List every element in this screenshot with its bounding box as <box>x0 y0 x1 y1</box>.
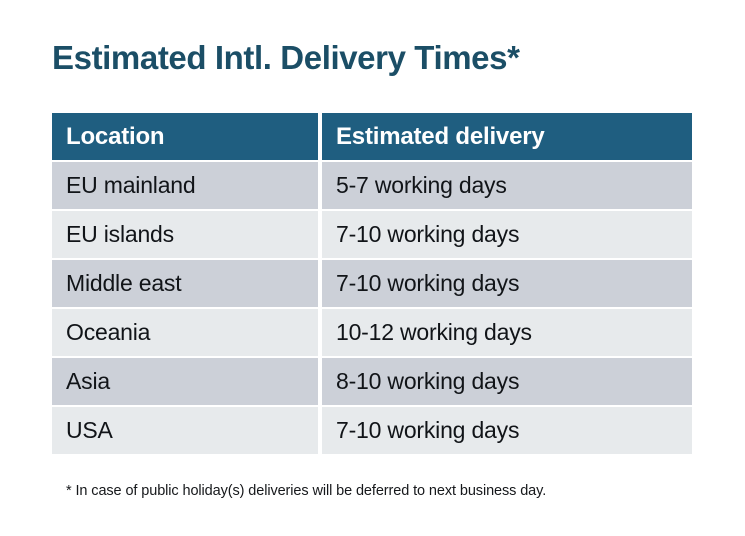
cell-location: Asia <box>52 358 318 405</box>
cell-estimated-delivery: 10-12 working days <box>322 309 692 356</box>
column-header-estimated-delivery: Estimated delivery <box>322 113 692 160</box>
table-header-row: Location Estimated delivery <box>52 113 692 160</box>
cell-location: USA <box>52 407 318 454</box>
cell-location: EU islands <box>52 211 318 258</box>
cell-estimated-delivery: 7-10 working days <box>322 407 692 454</box>
table-row: EU mainland 5-7 working days <box>52 162 692 209</box>
table-row: Middle east 7-10 working days <box>52 260 692 307</box>
cell-estimated-delivery: 7-10 working days <box>322 211 692 258</box>
delivery-times-page: Estimated Intl. Delivery Times* Location… <box>0 0 745 536</box>
table-row: Asia 8-10 working days <box>52 358 692 405</box>
cell-location: Oceania <box>52 309 318 356</box>
page-title: Estimated Intl. Delivery Times* <box>52 37 692 79</box>
column-header-location: Location <box>52 113 318 160</box>
cell-estimated-delivery: 7-10 working days <box>322 260 692 307</box>
delivery-times-table: Location Estimated delivery EU mainland … <box>52 113 692 454</box>
footnote: * In case of public holiday(s) deliverie… <box>66 481 726 501</box>
table-row: EU islands 7-10 working days <box>52 211 692 258</box>
cell-location: EU mainland <box>52 162 318 209</box>
table-row: Oceania 10-12 working days <box>52 309 692 356</box>
table-row: USA 7-10 working days <box>52 407 692 454</box>
cell-estimated-delivery: 8-10 working days <box>322 358 692 405</box>
cell-estimated-delivery: 5-7 working days <box>322 162 692 209</box>
cell-location: Middle east <box>52 260 318 307</box>
